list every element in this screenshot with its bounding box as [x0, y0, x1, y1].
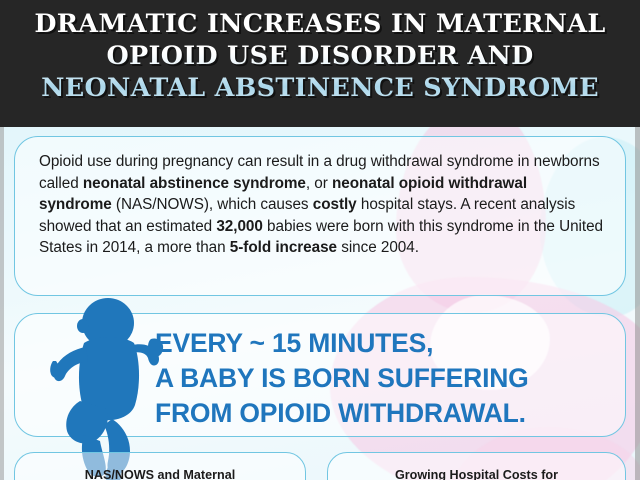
- header-band: DRAMATIC INCREASES IN MATERNAL OPIOID US…: [0, 0, 640, 127]
- emphasized-term: costly: [313, 196, 357, 213]
- body-canvas: Opioid use during pregnancy can result i…: [0, 127, 640, 480]
- page-edge-right: [635, 127, 640, 480]
- body-text: (NAS/NOWS), which causes: [112, 196, 313, 213]
- bottom-card-right-heading: Growing Hospital Costs for: [328, 467, 625, 480]
- body-text: , or: [306, 175, 332, 192]
- emphasized-term: 5-fold increase: [230, 239, 337, 256]
- page-title: DRAMATIC INCREASES IN MATERNAL OPIOID US…: [0, 8, 640, 104]
- emphasized-term: 32,000: [216, 218, 263, 235]
- infographic-page: DRAMATIC INCREASES IN MATERNAL OPIOID US…: [0, 0, 640, 480]
- page-edge-left: [0, 127, 4, 480]
- intro-card: Opioid use during pregnancy can result i…: [14, 136, 626, 296]
- bottom-card-left-heading: NAS/NOWS and Maternal: [15, 467, 305, 480]
- emphasized-term: neonatal abstinence syndrome: [83, 175, 306, 192]
- body-text: since 2004.: [337, 239, 419, 256]
- bottom-card-left: NAS/NOWS and Maternal: [14, 452, 306, 480]
- intro-paragraph: Opioid use during pregnancy can result i…: [39, 151, 603, 259]
- bottom-card-right: Growing Hospital Costs for: [327, 452, 626, 480]
- statistic-statement: EVERY ~ 15 MINUTES, A BABY IS BORN SUFFE…: [155, 326, 625, 431]
